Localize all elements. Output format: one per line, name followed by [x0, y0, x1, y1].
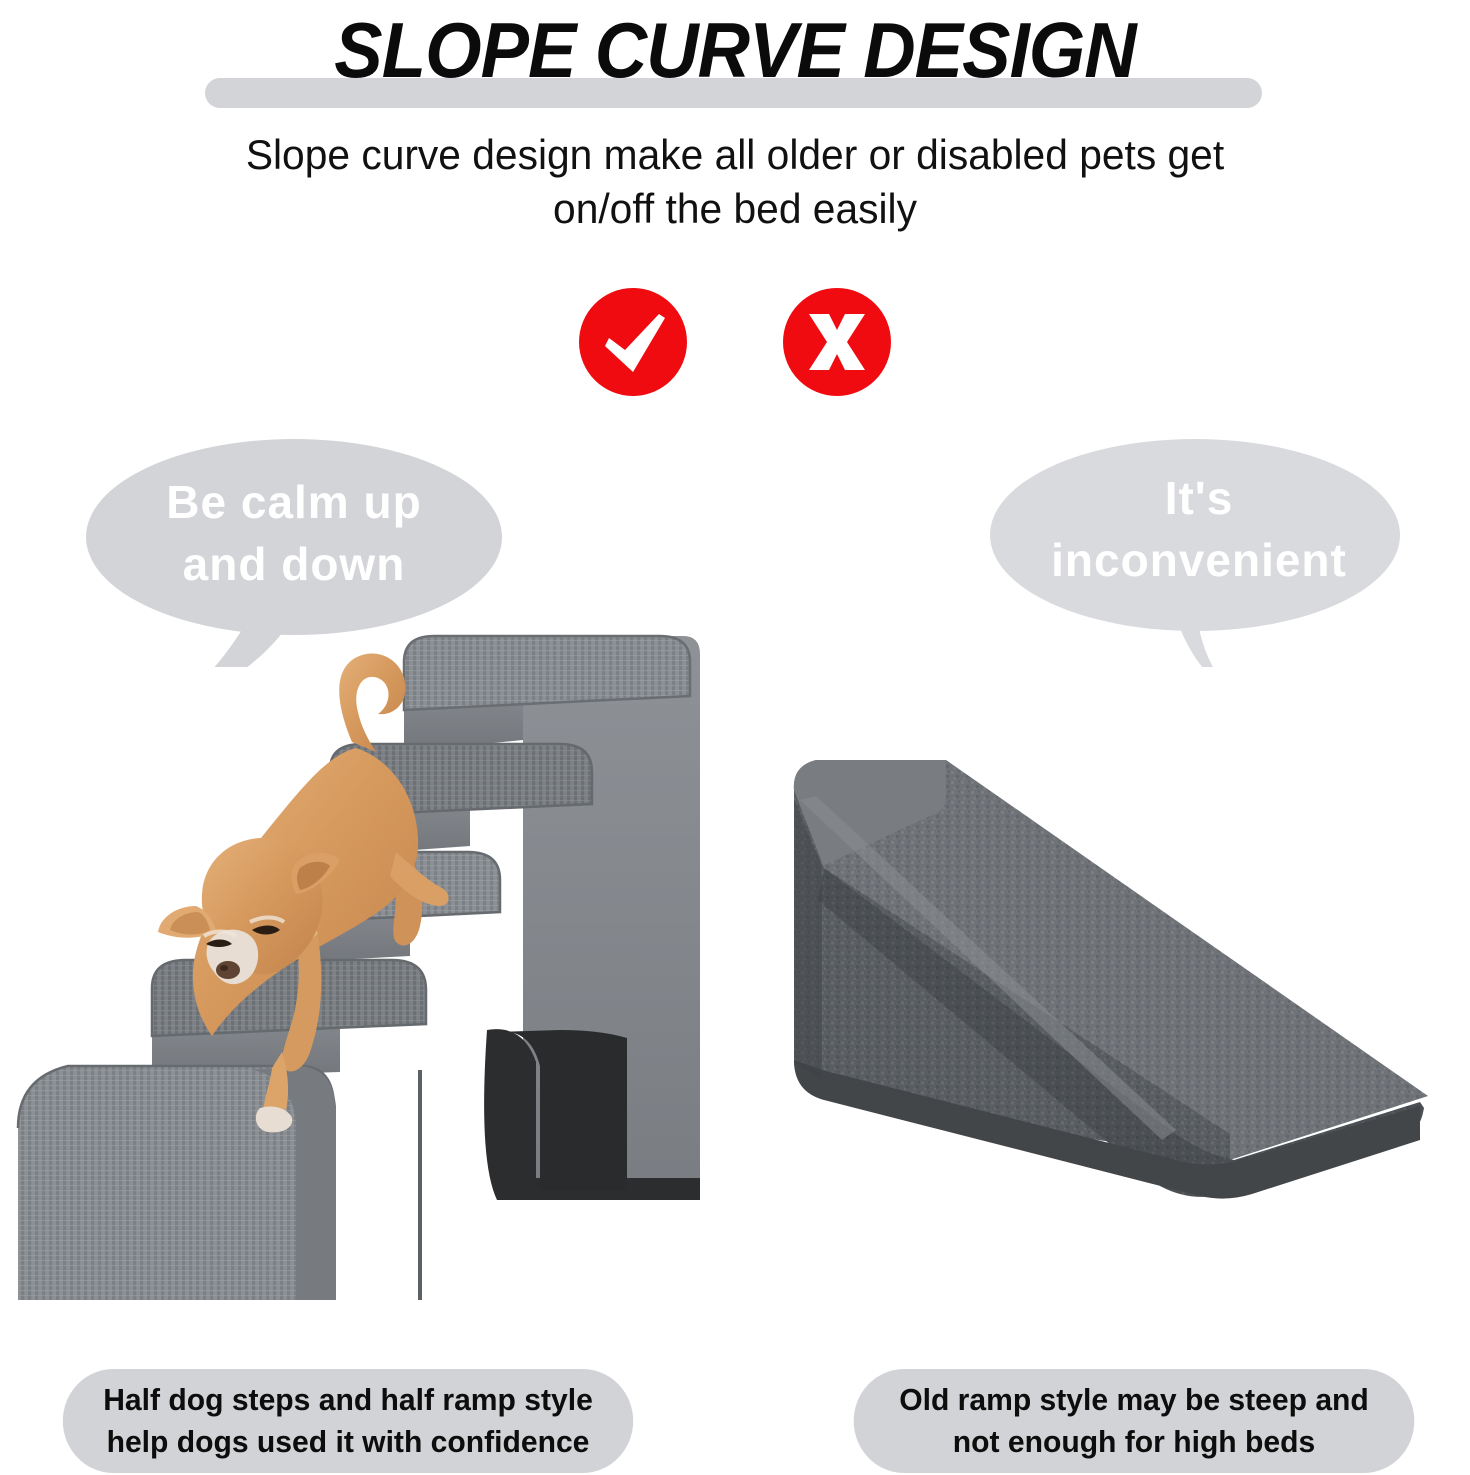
dog-tail	[339, 654, 405, 752]
bubble-right-line1: It's	[990, 467, 1408, 529]
page-subtitle: Slope curve design make all older or dis…	[202, 128, 1269, 236]
dog-nostril	[220, 965, 228, 971]
dog-stairs-product	[18, 636, 700, 1300]
caption-left: Half dog steps and half ramp style help …	[63, 1369, 633, 1473]
bubble-right-line2: inconvenient	[990, 529, 1408, 591]
cross-badge	[783, 288, 891, 396]
header-title-block: SLOPE CURVE DESIGN	[0, 0, 1470, 112]
speech-bubble-right-text: It's inconvenient	[990, 467, 1408, 591]
infographic-page: SLOPE CURVE DESIGN Slope curve design ma…	[0, 0, 1470, 1475]
foam-wedge-ramp-product	[794, 760, 1428, 1199]
caption-right: Old ramp style may be steep and not enou…	[854, 1369, 1415, 1473]
product-comparison-stage	[0, 600, 1470, 1320]
check-icon	[579, 288, 687, 396]
speech-bubble-left-text: Be calm up and down	[85, 471, 503, 595]
close-icon	[783, 288, 891, 396]
comparison-badges	[0, 288, 1470, 396]
dog-nose	[216, 961, 240, 979]
check-badge	[579, 288, 687, 396]
bubble-left-line1: Be calm up	[85, 471, 503, 533]
bubble-left-line2: and down	[85, 533, 503, 595]
page-title: SLOPE CURVE DESIGN	[51, 0, 1418, 100]
